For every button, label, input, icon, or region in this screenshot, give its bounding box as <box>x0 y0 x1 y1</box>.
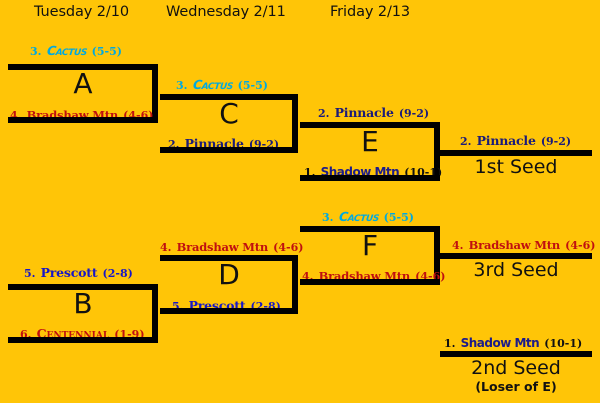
date-header-round1: Tuesday 2/10 <box>34 4 129 20</box>
game-a-top-team: 3. Cactus (5-5) <box>30 42 122 58</box>
seed-number: 3. <box>30 45 41 58</box>
seed-number: 3. <box>176 79 187 92</box>
game-c-bottom-rail <box>160 147 298 153</box>
seed-number: 1. <box>444 337 455 350</box>
seed-number: 3. <box>322 211 333 224</box>
game-e-letter: E <box>300 128 440 156</box>
third-seed-label: 3rd Seed <box>440 259 592 281</box>
game-f-bottom-rail <box>300 279 440 285</box>
game-e-top-team: 2. Pinnacle (9-2) <box>318 104 429 120</box>
second-seed-sublabel: (Loser of E) <box>440 379 592 394</box>
seed-number: 2. <box>318 107 329 120</box>
second-seed-team: 1. Shadow Mtn (10-1) <box>444 334 582 350</box>
team-name: Cactus <box>338 211 379 224</box>
team-record: (4-6) <box>273 241 303 254</box>
game-c-letter: C <box>160 100 298 128</box>
team-name: Cactus <box>46 45 87 58</box>
team-record: (5-5) <box>238 79 268 92</box>
team-record: (5-5) <box>384 211 414 224</box>
seed-number: 4. <box>160 241 171 254</box>
team-record: (4-6) <box>565 239 595 252</box>
team-name: Prescott <box>41 265 98 280</box>
bracket-canvas: Tuesday 2/10 Wednesday 2/11 Friday 2/13 … <box>0 0 600 403</box>
team-name: Shadow Mtn <box>461 336 540 350</box>
game-b-bottom-rail <box>8 337 158 343</box>
date-header-round2: Wednesday 2/11 <box>166 4 286 20</box>
game-a-bottom-rail <box>8 117 158 123</box>
game-d-bottom-rail <box>160 308 298 314</box>
team-record: (9-2) <box>399 107 429 120</box>
first-seed-team: 2. Pinnacle (9-2) <box>460 132 571 148</box>
game-b-letter: B <box>8 290 158 318</box>
game-d-letter: D <box>160 261 298 289</box>
game-a-letter: A <box>8 70 158 98</box>
game-e-bottom-rail <box>300 175 440 181</box>
third-seed-team: 4. Bradshaw Mtn (4-6) <box>452 236 595 252</box>
team-name: Bradshaw Mtn <box>177 240 268 254</box>
game-f-top-team: 3. Cactus (5-5) <box>322 208 414 224</box>
team-record: (2-8) <box>103 267 133 280</box>
second-seed-label: 2nd Seed <box>440 357 592 379</box>
game-d-top-team: 4. Bradshaw Mtn (4-6) <box>160 238 303 254</box>
game-c-top-team: 3. Cactus (5-5) <box>176 76 268 92</box>
team-name: Cactus <box>192 79 233 92</box>
team-record: (10-1) <box>544 337 582 350</box>
team-name: Pinnacle <box>335 105 394 120</box>
game-f-letter: F <box>300 232 440 260</box>
seed-number: 4. <box>452 239 463 252</box>
seed-number: 5. <box>24 267 35 280</box>
team-record: (5-5) <box>92 45 122 58</box>
team-record: (9-2) <box>541 135 571 148</box>
team-name: Bradshaw Mtn <box>469 238 560 252</box>
seed-number: 2. <box>460 135 471 148</box>
first-seed-label: 1st Seed <box>440 156 592 178</box>
game-b-top-team: 5. Prescott (2-8) <box>24 264 133 280</box>
team-name: Pinnacle <box>477 133 536 148</box>
date-header-round3: Friday 2/13 <box>330 4 410 20</box>
